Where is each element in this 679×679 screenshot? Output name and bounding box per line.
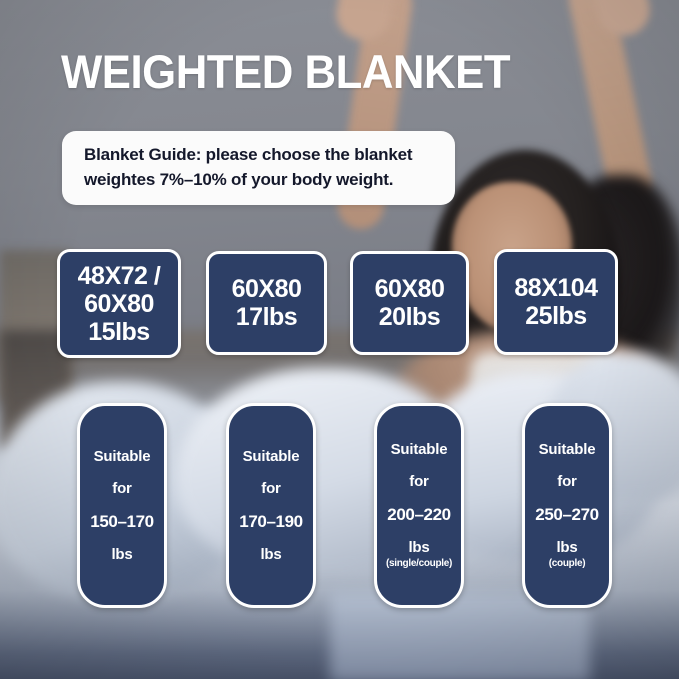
suitability-panel[interactable]: Suitable for 250–270 lbs (couple) [522, 403, 612, 608]
suitability-unit-group: lbs (couple) [549, 540, 586, 569]
suitability-panel[interactable]: Suitable for 200–220 lbs (single/couple) [374, 403, 464, 608]
size-card[interactable]: 60X80 17lbs [206, 251, 327, 355]
suitability-panel-row: Suitable for 150–170 lbs Suitable for 17… [0, 400, 679, 615]
suitability-line-1: Suitable [391, 442, 448, 457]
suitability-panel[interactable]: Suitable for 150–170 lbs [77, 403, 167, 608]
suitability-line-2: for [261, 481, 280, 496]
suitability-weight-range: 250–270 [535, 506, 598, 523]
suitability-weight-range: 200–220 [387, 506, 450, 523]
suitability-weight-range: 150–170 [90, 513, 153, 530]
size-card-row: 48X72 / 60X80 15lbs 60X80 17lbs 60X80 20… [0, 245, 679, 360]
suitability-unit-group: lbs (single/couple) [386, 540, 452, 569]
suitability-unit: lbs [556, 540, 577, 555]
weighted-blanket-infographic: WEIGHTED BLANKET Blanket Guide: please c… [0, 0, 679, 679]
suitability-unit-group: lbs [111, 547, 132, 562]
suitability-line-2: for [112, 481, 131, 496]
suitability-line-2: for [557, 474, 576, 489]
suitability-line-1: Suitable [243, 449, 300, 464]
size-card[interactable]: 60X80 20lbs [350, 251, 469, 355]
suitability-unit: lbs [111, 547, 132, 562]
suitability-unit: lbs [408, 540, 429, 555]
suitability-weight-range: 170–190 [239, 513, 302, 530]
size-card[interactable]: 88X104 25lbs [494, 249, 618, 355]
suitability-line-1: Suitable [94, 449, 151, 464]
suitability-note: (couple) [549, 559, 586, 569]
suitability-panel[interactable]: Suitable for 170–190 lbs [226, 403, 316, 608]
suitability-line-1: Suitable [539, 442, 596, 457]
suitability-unit: lbs [260, 547, 281, 562]
suitability-unit-group: lbs [260, 547, 281, 562]
infographic-content: WEIGHTED BLANKET Blanket Guide: please c… [0, 0, 679, 679]
blanket-guide-note: Blanket Guide: please choose the blanket… [62, 131, 455, 205]
size-card[interactable]: 48X72 / 60X80 15lbs [57, 249, 181, 358]
page-title: WEIGHTED BLANKET [61, 48, 510, 95]
suitability-note: (single/couple) [386, 559, 452, 569]
suitability-line-2: for [409, 474, 428, 489]
